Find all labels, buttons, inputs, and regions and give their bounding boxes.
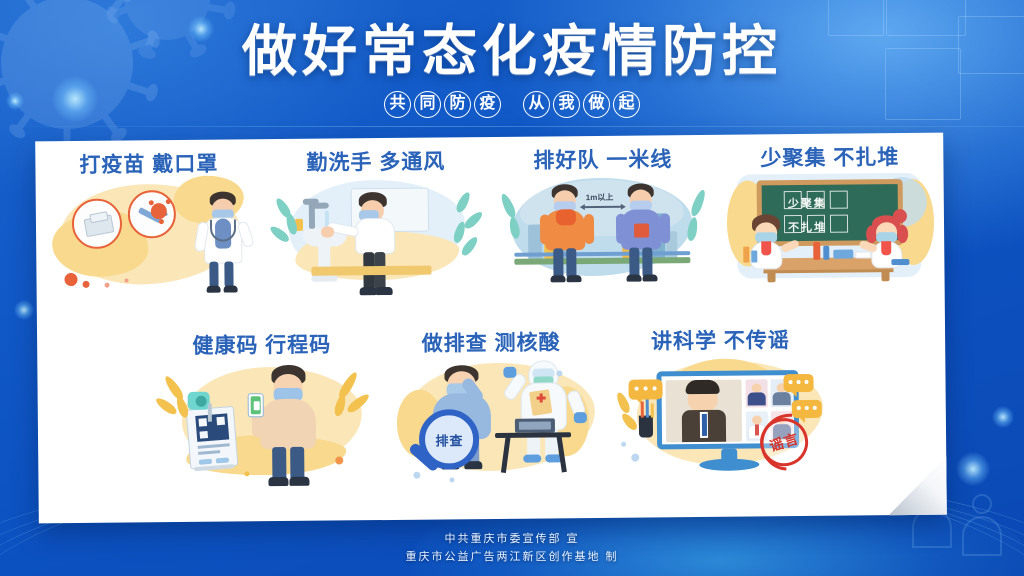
syringe-virus-icon — [128, 190, 176, 238]
footer-line-1: 中共重庆市委宣传部 宣 — [0, 530, 1024, 548]
panel-title: 讲科学 不传谣 — [610, 324, 832, 356]
panel-science[interactable]: 讲科学 不传谣 — [606, 324, 837, 506]
panel-handwash[interactable]: 勤洗手 多通风 — [262, 145, 491, 317]
panel-title: 少聚集 不扎堆 — [720, 141, 939, 173]
qr-sign-board — [186, 406, 239, 470]
monitor-base — [699, 458, 759, 471]
illustration-doctor-vaccine — [46, 179, 254, 301]
panel-row-bottom: 健康码 行程码 — [37, 323, 947, 512]
illustration-handwash — [273, 177, 481, 299]
page-title: 做好常态化疫情防控 — [0, 20, 1024, 82]
illustration-queue-distance: 1m以上 — [500, 175, 708, 297]
panel-title: 健康码 行程码 — [151, 328, 373, 360]
panel-row-top: 打疫苗 戴口罩 — [35, 141, 945, 320]
glow-dot-7 — [14, 300, 34, 320]
subtitle-char: 疫 — [474, 91, 501, 118]
footer-line-2: 重庆市公益广告两江新区创作基地 制 — [0, 548, 1024, 566]
glow-dot-6 — [992, 406, 1014, 428]
student-right — [865, 213, 914, 275]
panel-screening[interactable]: 做排查 测核酸 — [376, 326, 607, 508]
health-code-figure — [253, 365, 326, 490]
illustration-classroom: 少聚集 不扎堆 — [727, 173, 935, 295]
vaccine-box-icon — [72, 199, 122, 249]
panel-title: 勤洗手 多通风 — [266, 145, 485, 177]
subtitle-char: 共 — [384, 91, 411, 118]
queue-figure-right — [616, 183, 671, 288]
queue-figure-left — [540, 184, 595, 289]
footer-credits: 中共重庆市委宣传部 宣 重庆市公益广告两江新区创作基地 制 — [0, 530, 1024, 566]
glow-dot-4 — [956, 452, 990, 486]
divider-line-top — [0, 126, 1024, 127]
student-left — [745, 214, 794, 276]
subtitle-char: 我 — [553, 91, 580, 118]
poster-root: 做好常态化疫情防控 共 同 防 疫 从 我 做 起 打疫苗 戴口罩 — [0, 0, 1024, 576]
illustration-screening: 排查 — [387, 358, 598, 492]
handwash-figure — [349, 192, 410, 297]
illustration-science-rumor: 谣言 — [616, 356, 827, 490]
magnifier-label: 排查 — [435, 430, 463, 449]
panel-title: 做排查 测核酸 — [380, 326, 602, 358]
subtitle-char: 从 — [523, 91, 550, 118]
subtitle-char: 起 — [613, 91, 640, 118]
panel-gathering[interactable]: 少聚集 不扎堆 少聚集 不扎堆 — [716, 141, 945, 313]
panel-healthcode[interactable]: 健康码 行程码 — [147, 328, 378, 510]
panel-vaccine[interactable]: 打疫苗 戴口罩 — [35, 147, 264, 319]
subtitle-char: 做 — [583, 91, 610, 118]
content-card: 打疫苗 戴口罩 — [35, 133, 947, 524]
doctor-figure — [192, 191, 255, 296]
health-code-phone — [248, 393, 264, 417]
subtitle-char: 同 — [414, 91, 441, 118]
panel-title: 排好队 一米线 — [493, 143, 712, 175]
chat-bubble-right-top — [783, 374, 813, 392]
subtitle-row: 共 同 防 疫 从 我 做 起 — [0, 91, 1024, 118]
panel-queue[interactable]: 排好队 一米线 1m以上 — [489, 143, 718, 315]
chat-bubble-left — [628, 379, 662, 399]
title-block: 做好常态化疫情防控 共 同 防 疫 从 我 做 起 — [0, 20, 1024, 118]
panel-title: 打疫苗 戴口罩 — [39, 147, 258, 179]
ppe-worker-figure — [513, 360, 580, 473]
illustration-health-code — [157, 360, 368, 494]
subtitle-spacer — [504, 104, 520, 105]
subtitle-char: 防 — [444, 91, 471, 118]
